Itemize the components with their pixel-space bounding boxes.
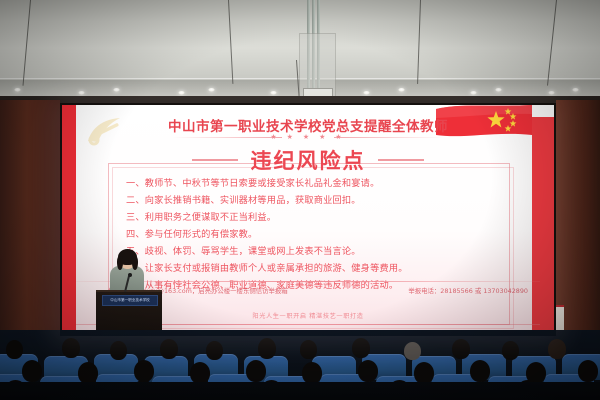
downlight <box>548 91 555 95</box>
audience-head <box>134 360 154 382</box>
podium-nameplate: 中山市第一职业技术学校 <box>102 295 158 306</box>
headline-rule-left <box>192 159 238 161</box>
downlight <box>572 88 579 92</box>
slide-title: 中山市第一职业技术学校党总支提醒全体教师 <box>76 115 540 135</box>
audience-head <box>404 342 421 360</box>
report-phone-text: 举报电话：28185566 或 13703042890 <box>408 286 528 295</box>
audience-head <box>300 340 317 359</box>
speaker-hair-right <box>132 256 138 270</box>
auditorium-scene: 艰苦奋斗 自强不息 <box>0 0 600 400</box>
audience-head <box>22 360 42 382</box>
slide-headline: 违纪风险点 <box>251 145 366 175</box>
risk-item-list: 一、教师节、中秋节等节日索要或接受家长礼品礼金和宴请。 二、向家长推销书籍、实训… <box>126 177 506 296</box>
audience-head <box>452 339 470 359</box>
list-item: 一、教师节、中秋节等节日索要或接受家长礼品礼金和宴请。 <box>126 177 506 191</box>
audience-head <box>160 339 178 359</box>
audience-head <box>502 341 519 360</box>
audience-head <box>78 362 98 384</box>
downlight <box>113 88 120 92</box>
list-item: 二、向家长推销书籍、实训器材等用品，获取商业回扣。 <box>126 194 506 208</box>
downlight <box>398 88 405 92</box>
slide-footer: 举报邮箱：zsyzx@163.com，启亮办公楼一楼东侧信访举报箱 举报电话：2… <box>108 286 528 295</box>
slide-left-red-band <box>62 105 76 334</box>
left-wall <box>0 100 60 360</box>
slide-footer-divider <box>76 281 540 282</box>
audience-head <box>548 339 566 359</box>
audience-head <box>470 360 490 382</box>
list-item: 四、参与任何形式的有偿家教。 <box>126 228 506 242</box>
podium-nameplate-text: 中山市第一职业技术学校 <box>103 296 157 305</box>
audience-head <box>414 362 434 384</box>
downlight <box>208 88 215 92</box>
audience-head <box>110 341 127 360</box>
star-divider: ★ ★ ★ ★ ★ <box>76 133 540 141</box>
audience-head <box>6 340 23 359</box>
slide-headline-row: 违纪风险点 <box>76 145 540 175</box>
audience-head <box>352 338 370 358</box>
downlight <box>470 91 477 95</box>
downlight <box>363 91 370 95</box>
list-item: 三、利用职务之便谋取不正当利益。 <box>126 211 506 225</box>
audience-head <box>62 338 80 358</box>
speaker-hair-left <box>117 256 123 270</box>
microphone-head <box>128 273 132 277</box>
audience-head <box>190 362 210 384</box>
audience-head <box>302 362 322 384</box>
list-item: 六、让家长支付或报销由教师个人或亲属承担的旅游、健身等费用。 <box>126 262 506 276</box>
floor <box>0 382 600 400</box>
audience-head <box>246 360 266 382</box>
audience-head <box>258 338 276 359</box>
audience-head <box>206 341 223 360</box>
downlight <box>78 91 85 95</box>
downlight <box>178 91 185 95</box>
list-item: 五、歧视、体罚、辱骂学生，课堂或网上发表不当言论。 <box>126 245 506 259</box>
downlight <box>14 88 21 92</box>
downlight <box>495 88 502 92</box>
audience-head <box>358 360 378 382</box>
audience-head <box>578 360 598 382</box>
downlight <box>270 91 277 95</box>
headline-rule-right <box>378 159 424 161</box>
